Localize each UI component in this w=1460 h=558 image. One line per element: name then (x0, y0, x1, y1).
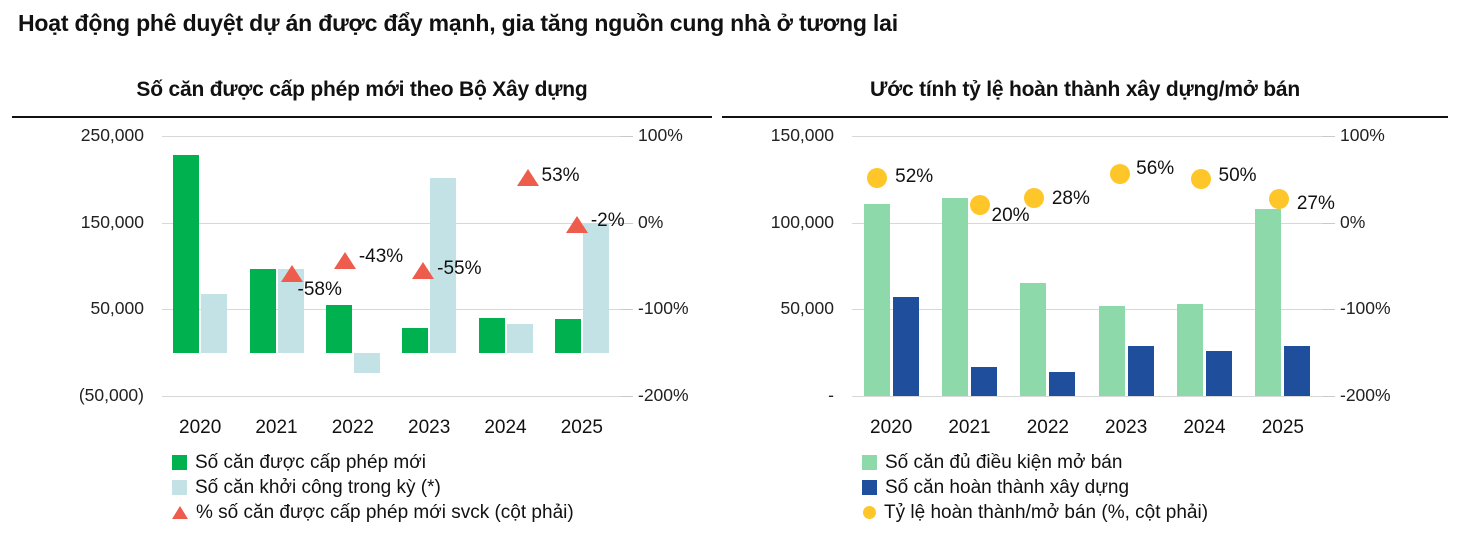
data-point-label: 28% (1052, 188, 1090, 210)
data-point-label: -43% (359, 246, 403, 268)
bar (1020, 283, 1046, 396)
y-axis-right-tick-label: 100% (638, 125, 683, 146)
bar (971, 367, 997, 396)
bar (1206, 351, 1232, 396)
left-chart-xaxis: 202020212022202320242025 (12, 415, 712, 443)
legend-label: Số căn đủ điều kiện mở bán (885, 452, 1122, 474)
bar (479, 318, 505, 353)
bar (201, 294, 227, 353)
bar (250, 269, 276, 353)
y-axis-right-tick-label: -200% (638, 385, 689, 406)
y-axis-right-tick-label: 0% (1340, 212, 1365, 233)
bar (864, 204, 890, 396)
y-axis-right-tick-label: -100% (1340, 298, 1391, 319)
right-chart-plot: 150,000100,00050,000-100%0%-100%-200%52%… (722, 124, 1448, 409)
bar (942, 198, 968, 396)
legend-circle-icon (863, 506, 876, 519)
circle-marker (867, 168, 887, 188)
y-axis-left-tick-label: 100,000 (722, 212, 834, 233)
x-axis-tick-label: 2021 (255, 417, 297, 439)
legend-item[interactable]: Số căn khởi công trong kỳ (*) (172, 475, 574, 500)
right-chart-legend: Số căn đủ điều kiện mở bánSố căn hoàn th… (862, 450, 1208, 525)
y-axis-left-tick-label: (50,000) (12, 385, 144, 406)
gridline (162, 309, 620, 310)
bar (402, 328, 428, 352)
legend-square-icon (862, 455, 877, 470)
legend-item[interactable]: Số căn được cấp phép mới (172, 450, 574, 475)
gridline (852, 223, 1322, 224)
triangle-marker (412, 262, 434, 279)
data-point-label: -2% (591, 210, 625, 232)
x-axis-tick-label: 2025 (561, 417, 603, 439)
circle-marker (1024, 188, 1044, 208)
bar (173, 155, 199, 353)
legend-item[interactable]: Số căn hoàn thành xây dựng (862, 475, 1208, 500)
y-axis-right-tick-mark (1322, 223, 1335, 224)
x-axis-tick-label: 2021 (948, 417, 990, 439)
bar (893, 297, 919, 396)
y-axis-right-tick-label: 0% (638, 212, 663, 233)
legend-square-icon (172, 455, 187, 470)
data-point-label: 20% (992, 205, 1030, 227)
y-axis-left-tick-label: 150,000 (12, 212, 144, 233)
right-chart-xaxis: 202020212022202320242025 (722, 415, 1448, 443)
circle-marker (1269, 189, 1289, 209)
y-axis-right-tick-mark (1322, 309, 1335, 310)
left-chart-title: Số căn được cấp phép mới theo Bộ Xây dựn… (12, 78, 712, 112)
chart-panel-right: Ước tính tỷ lệ hoàn thành xây dựng/mở bá… (722, 78, 1448, 548)
x-axis-tick-label: 2023 (1105, 417, 1147, 439)
right-title-rule (722, 116, 1448, 118)
circle-marker (1110, 164, 1130, 184)
y-axis-left-tick-label: 50,000 (12, 298, 144, 319)
bar (1177, 304, 1203, 396)
data-point-label: -58% (298, 279, 342, 301)
left-chart-legend: Số căn được cấp phép mớiSố căn khởi công… (172, 450, 574, 525)
data-point-label: 27% (1297, 193, 1335, 215)
data-point-label: 52% (895, 166, 933, 188)
legend-triangle-icon (172, 506, 188, 519)
triangle-marker (566, 216, 588, 233)
legend-item[interactable]: Số căn đủ điều kiện mở bán (862, 450, 1208, 475)
bar (555, 319, 581, 353)
y-axis-right-tick-mark (620, 309, 633, 310)
bar (354, 353, 380, 374)
triangle-marker (517, 169, 539, 186)
gridline (162, 396, 620, 397)
legend-square-icon (172, 480, 187, 495)
x-axis-tick-label: 2024 (1183, 417, 1225, 439)
bar (1284, 346, 1310, 396)
legend-item[interactable]: Tỷ lệ hoàn thành/mở bán (%, cột phải) (862, 500, 1208, 525)
y-axis-right-tick-mark (1322, 136, 1335, 137)
legend-label: Số căn được cấp phép mới (195, 452, 426, 474)
triangle-marker (334, 252, 356, 269)
legend-square-icon (862, 480, 877, 495)
gridline (162, 223, 620, 224)
gridline (852, 136, 1322, 137)
legend-label: Số căn khởi công trong kỳ (*) (195, 477, 441, 499)
legend-label: Tỷ lệ hoàn thành/mở bán (%, cột phải) (884, 502, 1208, 524)
data-point-label: 53% (542, 165, 580, 187)
circle-marker (970, 195, 990, 215)
y-axis-right-tick-label: -100% (638, 298, 689, 319)
x-axis-tick-label: 2022 (1027, 417, 1069, 439)
x-axis-tick-label: 2025 (1262, 417, 1304, 439)
gridline (852, 396, 1322, 397)
bar (1255, 209, 1281, 396)
x-axis-tick-label: 2020 (870, 417, 912, 439)
bar (1049, 372, 1075, 396)
data-point-label: -55% (437, 258, 481, 280)
x-axis-tick-label: 2023 (408, 417, 450, 439)
y-axis-left-tick-label: - (722, 385, 834, 406)
legend-item[interactable]: % số căn được cấp phép mới svck (cột phả… (172, 500, 574, 525)
circle-marker (1191, 169, 1211, 189)
x-axis-tick-label: 2022 (332, 417, 374, 439)
y-axis-right-tick-label: -200% (1340, 385, 1391, 406)
bar (1128, 346, 1154, 396)
y-axis-left-tick-label: 150,000 (722, 125, 834, 146)
x-axis-tick-label: 2020 (179, 417, 221, 439)
gridline (852, 309, 1322, 310)
bar (507, 324, 533, 353)
bar (1099, 306, 1125, 396)
chart-panel-left: Số căn được cấp phép mới theo Bộ Xây dựn… (12, 78, 712, 548)
y-axis-right-tick-mark (1322, 396, 1335, 397)
left-chart-plot: 250,000150,00050,000(50,000)100%0%-100%-… (12, 124, 712, 409)
y-axis-right-tick-mark (620, 396, 633, 397)
gridline (162, 136, 620, 137)
data-point-label: 56% (1136, 158, 1174, 180)
legend-label: % số căn được cấp phép mới svck (cột phả… (196, 502, 574, 524)
page-title: Hoạt động phê duyệt dự án được đẩy mạnh,… (18, 10, 898, 37)
bar (326, 305, 352, 353)
y-axis-left-tick-label: 250,000 (12, 125, 144, 146)
y-axis-right-tick-label: 100% (1340, 125, 1385, 146)
data-point-label: 50% (1219, 165, 1257, 187)
y-axis-left-tick-label: 50,000 (722, 298, 834, 319)
y-axis-right-tick-mark (620, 136, 633, 137)
right-chart-title: Ước tính tỷ lệ hoàn thành xây dựng/mở bá… (722, 78, 1448, 112)
legend-label: Số căn hoàn thành xây dựng (885, 477, 1129, 499)
left-title-rule (12, 116, 712, 118)
bar (583, 224, 609, 352)
x-axis-tick-label: 2024 (484, 417, 526, 439)
